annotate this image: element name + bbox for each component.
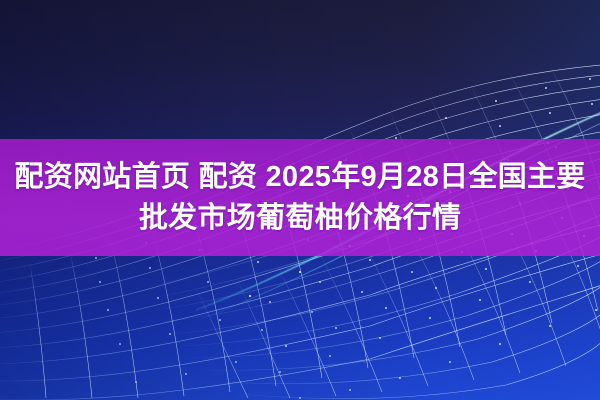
page-title: 配资网站首页 配资 2025年9月28日全国主要 批发市场葡萄柚价格行情 (0, 139, 600, 256)
headline-line-1: 配资网站首页 配资 2025年9月28日全国主要 (14, 157, 585, 198)
headline-line-2: 批发市场葡萄柚价格行情 (139, 198, 461, 239)
banner: 配资网站首页 配资 2025年9月28日全国主要 批发市场葡萄柚价格行情 (0, 0, 600, 400)
